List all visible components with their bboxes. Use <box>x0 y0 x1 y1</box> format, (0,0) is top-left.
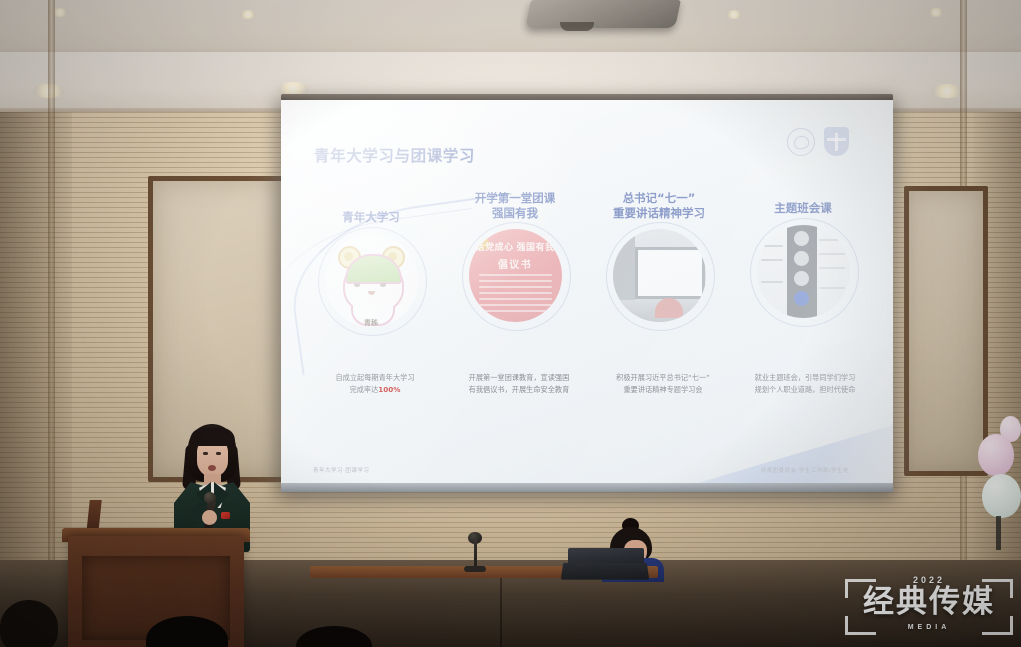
app-screenshot <box>757 225 850 318</box>
laptop <box>561 563 649 580</box>
mascot-illustration: 青秭 <box>325 234 418 327</box>
ceiling-projector <box>525 0 681 28</box>
presentation-slide: 青年大学习与团课学习 青年大学习 <box>281 100 893 492</box>
slide-column: 总书记“七一” 重要讲话精神学习 <box>587 188 731 448</box>
mascot-label: 青秭 <box>325 318 418 327</box>
screen-bottom-bar <box>281 483 893 492</box>
column-image-wrap <box>757 225 850 318</box>
table-seam <box>500 578 502 647</box>
photo-scene: 青年大学习与团课学习 青年大学习 <box>0 0 1021 647</box>
downlight <box>726 10 742 19</box>
watermark-brand: 经典传媒 <box>845 587 1013 618</box>
red-proposal-document: 话党成心 强国有我 倡议书 <box>469 229 562 322</box>
column-caption: 积极开展习近平总书记“七一” 重要讲话精神专题学习会 <box>589 372 737 395</box>
projection-screen: 青年大学习与团课学习 青年大学习 <box>281 100 893 492</box>
balloon-stand <box>996 516 1001 550</box>
document-body-lines <box>479 274 552 316</box>
projector-lens-icon <box>560 22 594 31</box>
shield-crest-icon <box>824 127 849 156</box>
document-title-line2: 倡议书 <box>469 256 562 271</box>
slide-column: 开学第一堂团课 强国有我 话党成心 强国有我 倡议书 <box>443 188 587 448</box>
downlight <box>928 8 944 17</box>
classroom-meeting-photo <box>613 229 706 322</box>
document-title-line1: 话党成心 强国有我 <box>469 240 562 253</box>
downlight <box>240 10 256 19</box>
slide-column: 主题班会课 <box>731 188 875 448</box>
media-watermark: 2022 经典传媒 MEDIA <box>845 573 1013 639</box>
column-heading: 青年大学习 <box>342 210 400 225</box>
pink-balloon <box>978 434 1014 476</box>
wall-panel-right <box>904 186 988 476</box>
column-caption: 就业主题班会，引导同学们学习 规划个人职业道路，担时代使命 <box>731 372 879 395</box>
microphone-head-icon <box>204 492 216 504</box>
column-image-wrap: 话党成心 强国有我 倡议书 <box>469 229 562 322</box>
column-heading: 总书记“七一” 重要讲话精神学习 <box>613 191 705 220</box>
slide-footer-right: 共青团委员会·学生工作部/学生处 <box>761 466 849 474</box>
audience-head <box>0 600 58 647</box>
circle-emblem-icon <box>787 128 815 156</box>
slide-title: 青年大学习与团课学习 <box>314 144 475 166</box>
wall-shading-left <box>0 112 72 572</box>
column-image-wrap: 青秭 <box>325 234 418 327</box>
caption-highlight: 100% <box>378 385 400 394</box>
downlight <box>930 84 964 98</box>
slide-footer-left: 青年大学习·团课学习 <box>313 466 369 474</box>
column-heading: 开学第一堂团课 强国有我 <box>475 191 556 220</box>
slide-column: 青年大学习 青秭 <box>299 188 443 448</box>
red-lapel-pin-icon <box>221 512 230 519</box>
watermark-subtitle: MEDIA <box>845 624 1013 631</box>
column-caption: 自成立起每期青年大学习 完成率达100% <box>301 372 449 395</box>
column-image-wrap <box>613 229 706 322</box>
column-caption: 开展第一堂团课教育，宣读强国 有我倡议书，开展生命安全教育 <box>445 372 593 395</box>
slide-columns: 青年大学习 青秭 <box>299 188 875 448</box>
ceiling <box>0 0 1021 58</box>
white-balloon <box>982 474 1021 518</box>
microphone-base <box>464 566 486 572</box>
column-heading: 主题班会课 <box>774 201 832 216</box>
